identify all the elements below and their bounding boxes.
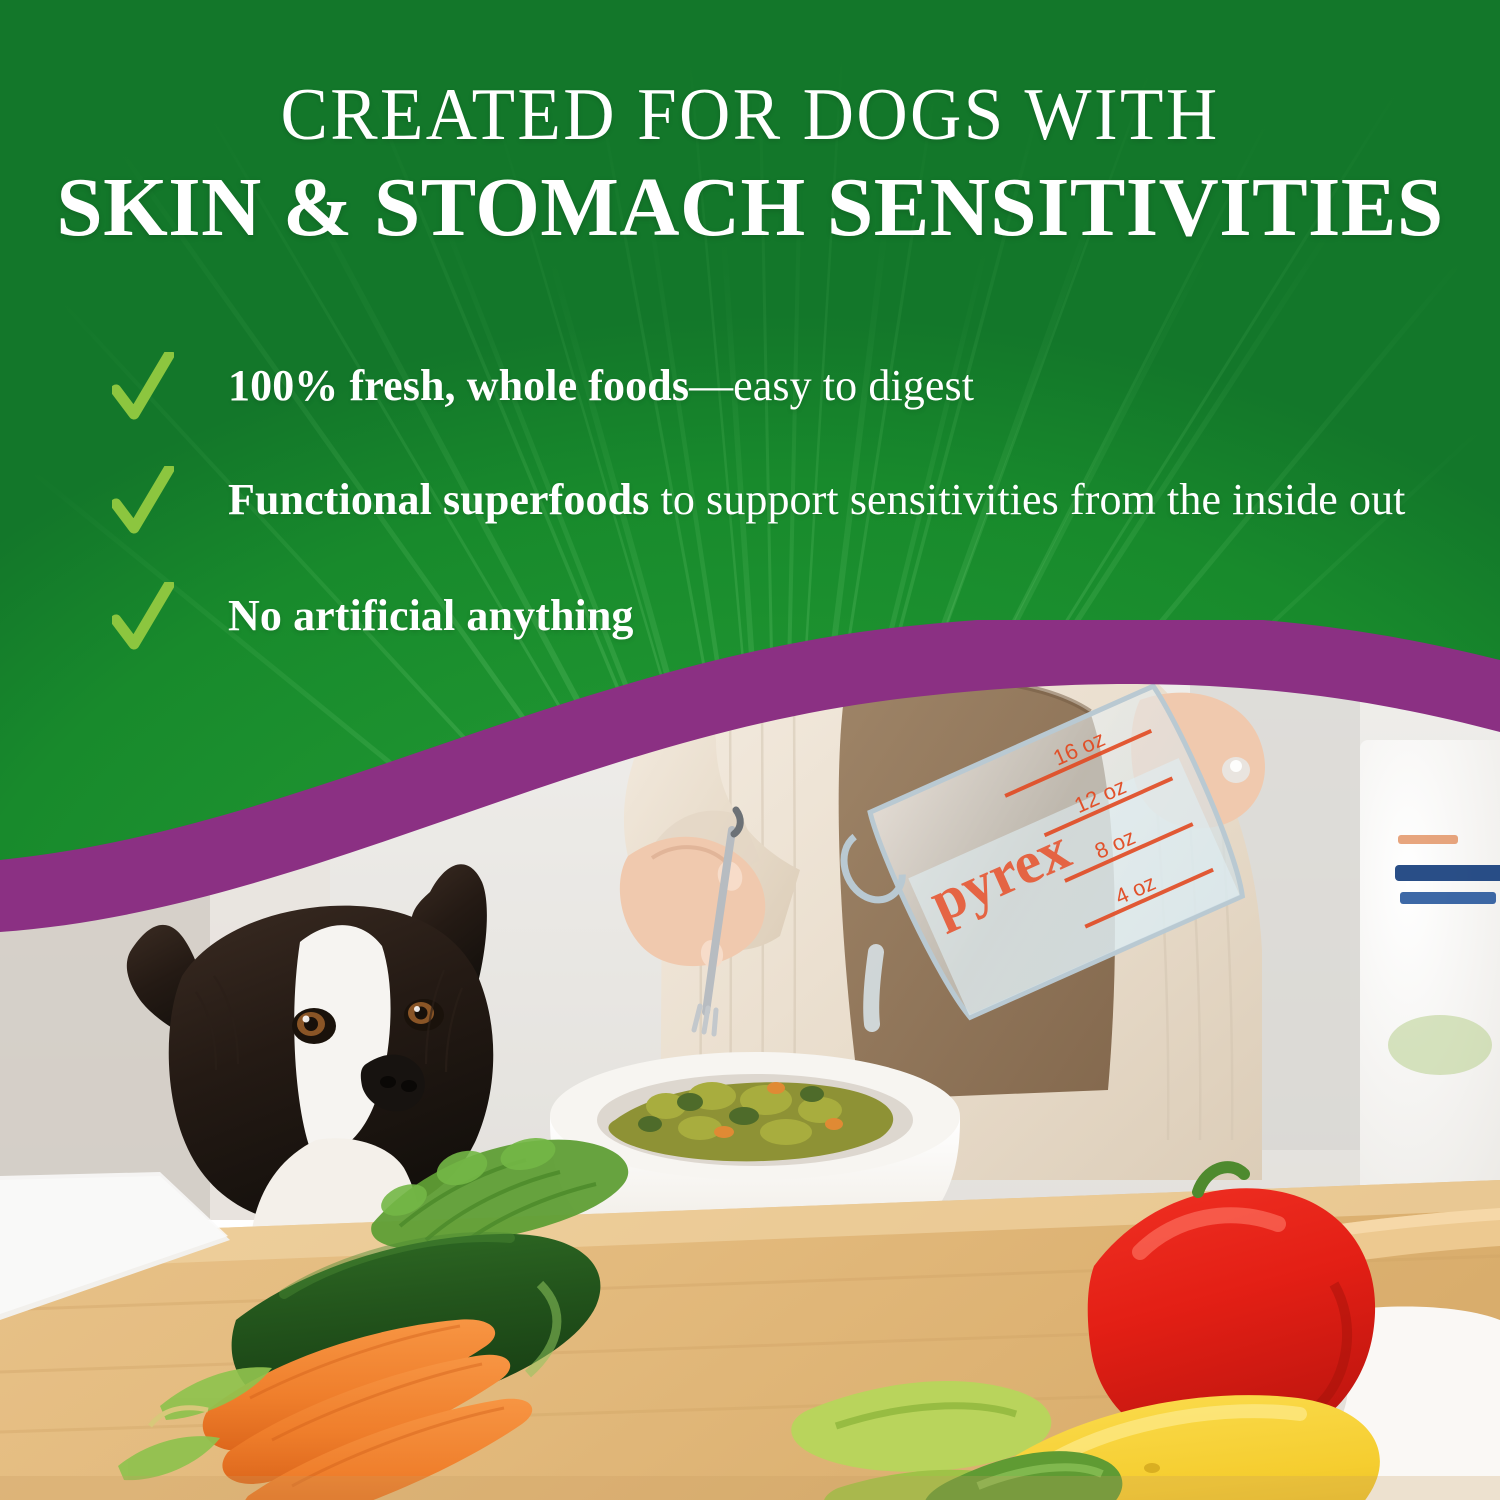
benefit-text-1-bold: 100% fresh, whole foods — [228, 361, 689, 410]
headline-block: CREATED FOR DOGS WITH SKIN & STOMACH SEN… — [0, 78, 1500, 256]
benefit-text-2-rest: to support sensitivities from the inside… — [649, 475, 1405, 524]
benefit-item-1: 100% fresh, whole foods—easy to digest — [112, 352, 1412, 428]
benefit-text-1: 100% fresh, whole foods—easy to digest — [228, 352, 1412, 413]
benefit-text-2: Functional superfoods to support sensiti… — [228, 466, 1412, 527]
check-icon — [112, 466, 174, 542]
benefit-text-1-rest: —easy to digest — [689, 361, 974, 410]
kitchen-photo: 16 oz 12 oz 8 oz 4 oz pyrex — [0, 620, 1500, 1500]
photo-region: 16 oz 12 oz 8 oz 4 oz pyrex — [0, 620, 1500, 1500]
headline-line-2: SKIN & STOMACH SENSITIVITIES — [8, 161, 1493, 255]
headline-line-1: CREATED FOR DOGS WITH — [30, 78, 1470, 153]
benefit-item-2: Functional superfoods to support sensiti… — [112, 466, 1412, 542]
promo-banner: CREATED FOR DOGS WITH SKIN & STOMACH SEN… — [0, 0, 1500, 1500]
check-icon — [112, 352, 174, 428]
benefit-text-2-bold: Functional superfoods — [228, 475, 649, 524]
